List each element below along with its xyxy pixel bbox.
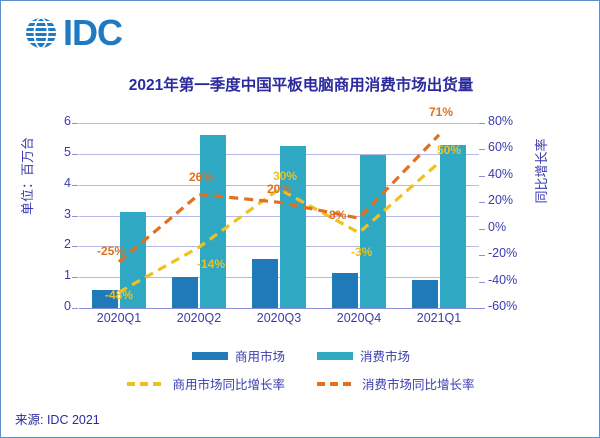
x-axis-tick-label: 2020Q2 — [159, 311, 239, 325]
y-axis-left-tick-label: 1 — [31, 268, 71, 282]
bar-commercial[interactable] — [412, 280, 438, 308]
x-axis-tick-label: 2020Q3 — [239, 311, 319, 325]
data-label-consumer-growth: 20% — [267, 182, 291, 196]
y-axis-right-tick-label: 80% — [488, 114, 538, 128]
y-tick-left — [72, 216, 78, 217]
legend-swatch-commercial — [192, 352, 228, 360]
y-axis-left-tick-label: 4 — [31, 176, 71, 190]
y-axis-right-tick-label: -40% — [488, 273, 538, 287]
data-label-commercial-growth: -48% — [105, 288, 133, 302]
chart-title: 2021年第一季度中国平板电脑商用消费市场出货量 — [1, 73, 600, 95]
logo-wordmark: IDC — [63, 15, 122, 51]
legend-item-commercial[interactable]: 商用市场 — [192, 346, 285, 365]
data-label-consumer-growth: 26% — [189, 170, 213, 184]
legend-swatch-consumer-growth — [317, 382, 355, 386]
y-tick-right — [479, 123, 485, 124]
legend-label-commercial-growth: 商用市场同比增长率 — [172, 374, 285, 393]
idc-logo: IDC — [23, 13, 122, 53]
bar-consumer[interactable] — [200, 135, 226, 308]
globe-icon — [23, 15, 59, 51]
y-axis-left-tick-label: 2 — [31, 237, 71, 251]
bar-commercial[interactable] — [252, 259, 278, 308]
y-axis-left-tick-label: 3 — [31, 207, 71, 221]
y-axis-left-tick-label: 0 — [31, 299, 71, 313]
y-axis-right-tick-label: 40% — [488, 167, 538, 181]
legend-item-consumer[interactable]: 消费市场 — [317, 346, 410, 365]
x-axis-tick-label: 2021Q1 — [399, 311, 479, 325]
y-tick-right — [479, 176, 485, 177]
source-note: 来源: IDC 2021 — [15, 409, 100, 428]
y-tick-right — [479, 149, 485, 150]
legend-row-lines: 商用市场同比增长率 消费市场同比增长率 — [1, 374, 600, 393]
y-tick-left — [72, 185, 78, 186]
y-tick-left — [72, 308, 78, 309]
x-axis-tick-label: 2020Q4 — [319, 311, 399, 325]
y-tick-left — [72, 154, 78, 155]
bar-commercial[interactable] — [332, 273, 358, 308]
data-label-consumer-growth: 8% — [329, 208, 346, 222]
legend-label-consumer-growth: 消费市场同比增长率 — [362, 374, 475, 393]
y-tick-right — [479, 255, 485, 256]
gridline — [79, 123, 479, 124]
legend-swatch-commercial-growth — [127, 382, 165, 386]
y-axis-right-tick-label: 0% — [488, 220, 538, 234]
bar-consumer[interactable] — [360, 155, 386, 308]
data-label-consumer-growth: -25% — [97, 244, 125, 258]
legend-item-commercial-growth[interactable]: 商用市场同比增长率 — [127, 374, 285, 393]
legend-label-commercial: 商用市场 — [235, 346, 285, 365]
y-tick-left — [72, 277, 78, 278]
legend-row-bars: 商用市场 消费市场 — [1, 346, 600, 365]
data-label-commercial-growth: 30% — [273, 169, 297, 183]
plot-wrapper: 单位：百万台 同比增长率 -48%-14%30%-3%50%-25%26%20%… — [1, 111, 600, 326]
legend-item-consumer-growth[interactable]: 消费市场同比增长率 — [317, 374, 475, 393]
y-axis-right-tick-label: 20% — [488, 193, 538, 207]
bar-commercial[interactable] — [172, 277, 198, 308]
y-tick-right — [479, 202, 485, 203]
data-label-consumer-growth: 71% — [429, 105, 453, 119]
y-tick-right — [479, 282, 485, 283]
y-tick-left — [72, 246, 78, 247]
chart-page: IDC 2021年第一季度中国平板电脑商用消费市场出货量 单位：百万台 同比增长… — [0, 0, 600, 438]
y-axis-left-tick-label: 6 — [31, 114, 71, 128]
y-tick-right — [479, 229, 485, 230]
data-label-commercial-growth: -14% — [197, 257, 225, 271]
legend-label-consumer: 消费市场 — [360, 346, 410, 365]
data-label-commercial-growth: -3% — [351, 245, 372, 259]
y-axis-right-tick-label: -20% — [488, 246, 538, 260]
y-axis-right-tick-label: -60% — [488, 299, 538, 313]
bar-consumer[interactable] — [440, 145, 466, 308]
data-label-commercial-growth: 50% — [437, 143, 461, 157]
y-tick-left — [72, 123, 78, 124]
y-axis-right-tick-label: 60% — [488, 140, 538, 154]
y-tick-right — [479, 308, 485, 309]
legend: 商用市场 消费市场 商用市场同比增长率 消费市场同比增长率 — [1, 346, 600, 402]
legend-swatch-consumer — [317, 352, 353, 360]
plot-area: -48%-14%30%-3%50%-25%26%20%8%71% — [79, 123, 479, 308]
gridline — [79, 154, 479, 155]
x-axis-tick-label: 2020Q1 — [79, 311, 159, 325]
y-axis-left-tick-label: 5 — [31, 145, 71, 159]
